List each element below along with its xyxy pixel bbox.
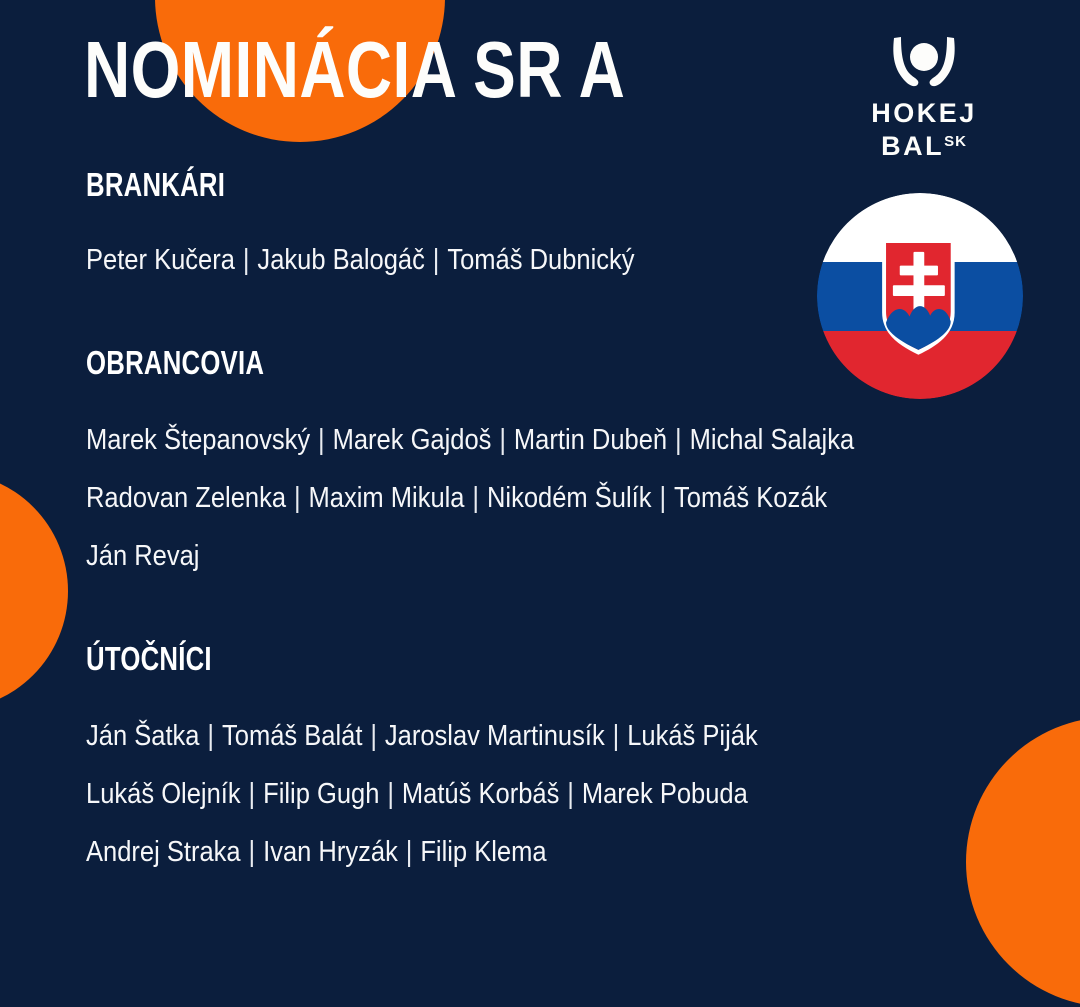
name-separator: | (605, 707, 627, 765)
player-name: Ján Šatka (86, 720, 200, 752)
player-name: Filip Gugh (263, 778, 379, 810)
player-name: Tomáš Dubnický (447, 244, 634, 276)
name-separator: | (425, 231, 447, 289)
hokejbal-sk-logo: HOKEJ BALSK (858, 32, 990, 160)
player-name: Tomáš Kozák (674, 482, 827, 514)
logo-text-bal: BAL (881, 131, 944, 161)
name-separator: | (362, 707, 384, 765)
name-separator: | (491, 411, 513, 469)
name-row: Ján Šatka|Tomáš Balát|Jaroslav Martinusí… (86, 707, 904, 765)
name-separator: | (379, 765, 401, 823)
name-rows-forwards: Ján Šatka|Tomáš Balát|Jaroslav Martinusí… (86, 707, 1016, 881)
logo-text-hokej: HOKEJ (858, 100, 990, 127)
name-separator: | (241, 765, 263, 823)
name-row: Lukáš Olejník|Filip Gugh|Matúš Korbáš|Ma… (86, 765, 904, 823)
name-separator: | (652, 469, 674, 527)
player-name: Matúš Korbáš (402, 778, 559, 810)
name-separator: | (465, 469, 487, 527)
player-name: Tomáš Balát (222, 720, 362, 752)
player-name: Jaroslav Martinusík (385, 720, 605, 752)
name-rows-defense: Marek Štepanovský|Marek Gajdoš|Martin Du… (86, 411, 1016, 585)
player-name: Marek Štepanovský (86, 424, 310, 456)
name-separator: | (398, 823, 420, 881)
logo-text-bal-sk: BALSK (858, 133, 990, 160)
name-separator: | (310, 411, 332, 469)
name-separator: | (200, 707, 222, 765)
raised-arms-figure-icon (858, 32, 990, 98)
slovakia-flag-svg (817, 193, 1023, 399)
player-name: Marek Pobuda (582, 778, 748, 810)
name-separator: | (559, 765, 581, 823)
player-name: Peter Kučera (86, 244, 235, 276)
player-name: Martin Dubeň (514, 424, 667, 456)
player-name: Lukáš Olejník (86, 778, 241, 810)
player-name: Maxim Mikula (309, 482, 465, 514)
name-row: Radovan Zelenka|Maxim Mikula|Nikodém Šul… (86, 469, 904, 527)
roster-section-forwards: ÚTOČNÍCIJán Šatka|Tomáš Balát|Jaroslav M… (86, 585, 1016, 881)
name-separator: | (241, 823, 263, 881)
name-row: Ján Revaj (86, 527, 904, 585)
player-name: Michal Salajka (690, 424, 855, 456)
player-name: Ján Revaj (86, 540, 199, 572)
logo-text-sk: SK (944, 133, 967, 150)
player-name: Marek Gajdoš (333, 424, 492, 456)
player-name: Radovan Zelenka (86, 482, 286, 514)
name-row: Marek Štepanovský|Marek Gajdoš|Martin Du… (86, 411, 904, 469)
name-separator: | (667, 411, 689, 469)
player-name: Andrej Straka (86, 836, 241, 868)
section-heading-forwards: ÚTOČNÍCI (86, 642, 811, 675)
section-heading-goalies: BRANKÁRI (86, 168, 811, 201)
player-name: Jakub Balogáč (257, 244, 424, 276)
name-separator: | (235, 231, 257, 289)
player-name: Ivan Hryzák (263, 836, 398, 868)
player-name: Nikodém Šulík (487, 482, 652, 514)
player-name: Lukáš Piják (627, 720, 758, 752)
slovakia-flag-circle (817, 193, 1023, 399)
page-title: NOMINÁCIA SR A (84, 30, 625, 110)
section-heading-defense: OBRANCOVIA (86, 346, 811, 379)
name-separator: | (286, 469, 308, 527)
name-row: Peter Kučera|Jakub Balogáč|Tomáš Dubnick… (86, 231, 904, 289)
name-row: Andrej Straka|Ivan Hryzák|Filip Klema (86, 823, 904, 881)
player-name: Filip Klema (420, 836, 546, 868)
